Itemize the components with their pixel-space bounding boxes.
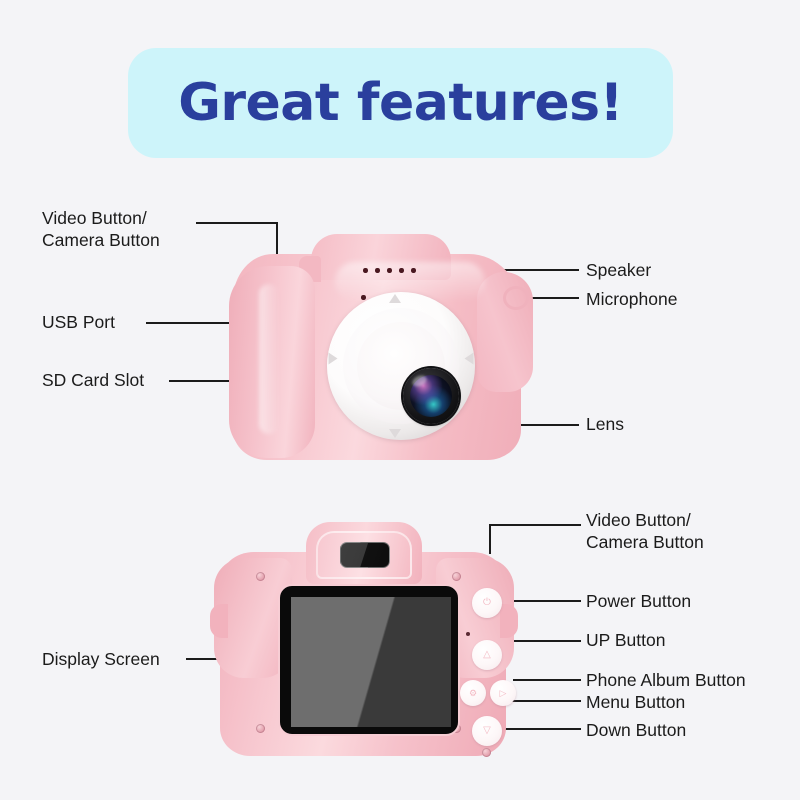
lens-barrel — [403, 368, 459, 424]
speaker-dot — [399, 268, 404, 273]
display-screen-bezel — [278, 584, 460, 736]
play-icon: ▷ — [500, 689, 507, 698]
screw-icon — [256, 724, 265, 733]
label-usb-port: USB Port — [42, 311, 115, 333]
label-video-camera-button-back: Video Button/ Camera Button — [586, 509, 704, 554]
label-sd-card-slot: SD Card Slot — [42, 369, 144, 391]
leader-phone-album-button — [513, 679, 581, 681]
lens-ring-tick-icon — [389, 429, 401, 438]
label-speaker: Speaker — [586, 259, 651, 281]
strap-lug-icon — [503, 286, 529, 310]
lens-ring-tick-icon — [329, 353, 338, 365]
speaker-dot — [363, 268, 368, 273]
screw-icon — [452, 572, 461, 581]
menu-button[interactable]: ⚙ — [460, 680, 486, 706]
lens-housing-ring-inner — [357, 322, 445, 410]
screw-icon — [482, 748, 491, 757]
label-menu-button: Menu Button — [586, 691, 685, 713]
leader-video-camera-button-front-h — [196, 222, 278, 224]
phone-album-button[interactable]: ▷ — [490, 680, 516, 706]
speaker-dot — [387, 268, 392, 273]
down-button[interactable]: ▽ — [472, 716, 502, 746]
microphone-dot — [361, 295, 366, 300]
camera-front-grip-highlight — [259, 284, 279, 434]
infographic-stage: Great features! Video Button/ Camera But… — [0, 0, 800, 800]
lens-ring-tick-icon — [465, 353, 474, 365]
up-triangle-icon: △ — [483, 650, 491, 660]
power-icon: ⏻ — [483, 598, 491, 608]
label-lens: Lens — [586, 413, 624, 435]
label-microphone: Microphone — [586, 288, 677, 310]
lens-housing-ring — [327, 292, 475, 440]
power-button[interactable]: ⏻ — [472, 588, 502, 618]
down-triangle-icon: ▽ — [483, 726, 491, 736]
speaker-dot — [411, 268, 416, 273]
label-power-button: Power Button — [586, 590, 691, 612]
title-banner: Great features! — [128, 48, 673, 158]
lens-ring-tick-icon — [389, 294, 401, 303]
up-button[interactable]: △ — [472, 640, 502, 670]
label-video-camera-button-front: Video Button/ Camera Button — [42, 207, 160, 252]
label-phone-album-button: Phone Album Button — [586, 669, 746, 691]
camera-back-left-lug — [210, 604, 228, 638]
camera-back-right-lug — [500, 604, 518, 638]
camera-back-view: ⏻ △ ⚙ ▷ ▽ — [214, 508, 514, 760]
speaker-dot — [375, 268, 380, 273]
display-screen — [291, 597, 451, 727]
lens-housing-ring-mid — [343, 308, 459, 424]
label-up-button: UP Button — [586, 629, 665, 651]
viewfinder-window — [340, 542, 390, 568]
indicator-led — [466, 632, 470, 636]
gear-icon: ⚙ — [469, 689, 477, 698]
label-down-button: Down Button — [586, 719, 686, 741]
title-text: Great features! — [178, 77, 623, 129]
label-display-screen: Display Screen — [42, 648, 160, 670]
camera-front-view — [215, 232, 535, 464]
screw-icon — [256, 572, 265, 581]
